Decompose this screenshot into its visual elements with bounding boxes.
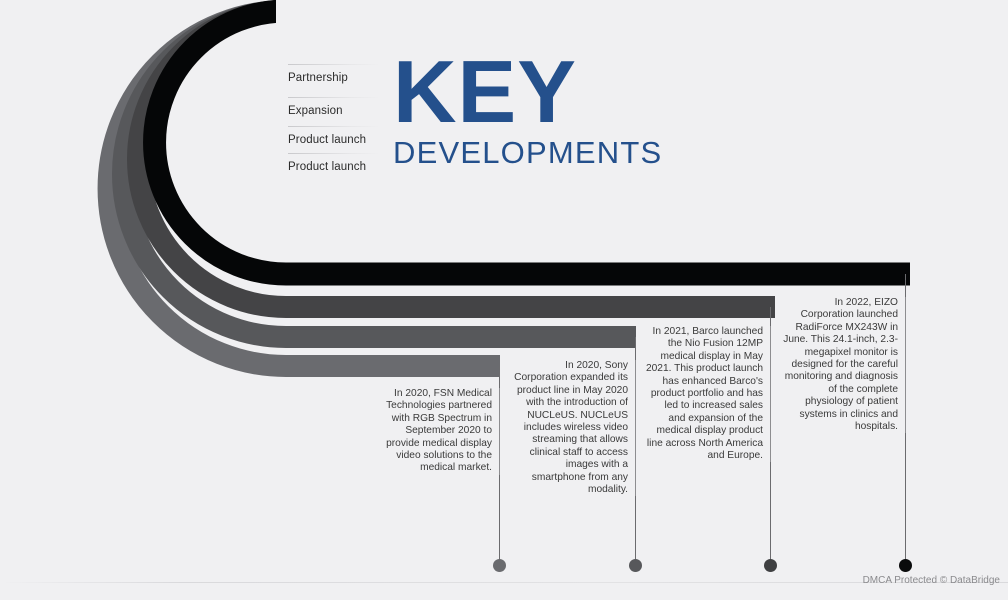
label-divider (288, 126, 380, 127)
footer-divider (0, 582, 1008, 583)
event-card-sony: In 2020, Sony Corporation expanded its p… (511, 360, 636, 496)
event-card-eizo: In 2022, EIZO Corporation launched RadiF… (780, 297, 906, 433)
category-label-expansion: Expansion (288, 105, 398, 117)
event-card-barco: In 2021, Barco launched the Nio Fusion 1… (645, 326, 771, 462)
category-label-column: Partnership Expansion Product launch Pro… (276, 0, 396, 262)
footer-attribution: DMCA Protected © DataBridge (863, 575, 1000, 586)
event-text: In 2020, FSN Medical Technologies partne… (380, 388, 492, 475)
label-divider (288, 64, 380, 65)
title-sub-text: DEVELOPMENTS (393, 137, 664, 168)
category-label-product-launch-2: Product launch (288, 161, 398, 173)
title-main-text: KEY (393, 52, 664, 133)
category-label-product-launch-1: Product launch (288, 134, 398, 146)
event-text: In 2022, EIZO Corporation launched RadiF… (780, 297, 898, 433)
category-label-text: Product launch (288, 134, 366, 146)
category-label-text: Partnership (288, 72, 348, 84)
label-divider (288, 97, 380, 98)
event-text: In 2021, Barco launched the Nio Fusion 1… (645, 326, 763, 462)
category-label-text: Expansion (288, 105, 343, 117)
category-label-partnership: Partnership (288, 72, 398, 84)
event-text: In 2020, Sony Corporation expanded its p… (511, 360, 628, 496)
category-label-text: Product launch (288, 161, 366, 173)
dot-event-4 (899, 559, 912, 572)
event-card-fsn-medical: In 2020, FSN Medical Technologies partne… (380, 388, 500, 475)
dot-event-2 (629, 559, 642, 572)
label-divider (288, 153, 380, 154)
infographic-canvas: Partnership Expansion Product launch Pro… (0, 0, 1008, 600)
dot-event-3 (764, 559, 777, 572)
page-title: KEY DEVELOPMENTS (393, 52, 664, 168)
dot-event-1 (493, 559, 506, 572)
